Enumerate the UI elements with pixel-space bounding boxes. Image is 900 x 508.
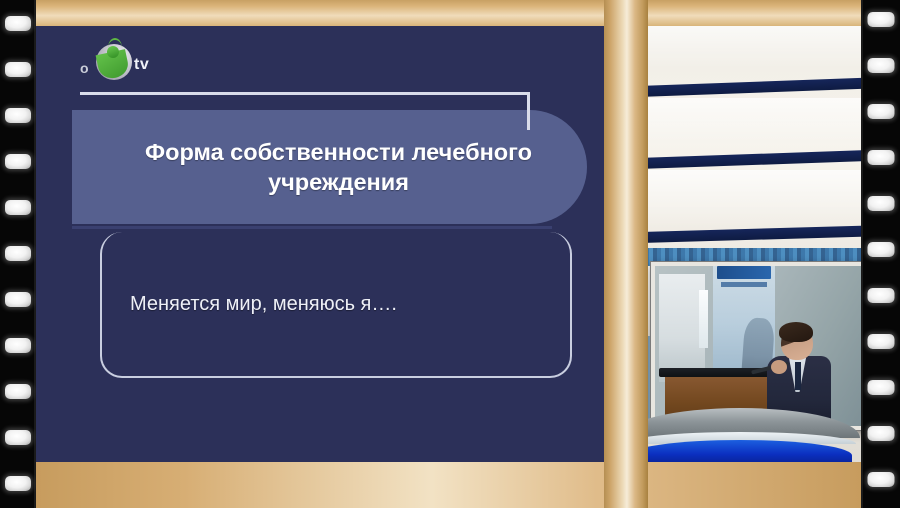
channel-logo: o tv	[78, 40, 170, 84]
film-perforation	[5, 16, 31, 31]
gold-bottom-band	[36, 462, 861, 508]
film-perforation	[5, 292, 31, 307]
filmstrip-left	[0, 0, 36, 508]
inset-speaker-hair	[779, 322, 813, 342]
film-perforation	[867, 380, 894, 395]
studio-stripe	[645, 225, 861, 243]
film-perforation	[867, 288, 894, 303]
film-perforation	[867, 472, 894, 487]
studio-panel-glow	[645, 98, 861, 152]
film-perforation	[867, 104, 894, 119]
film-perforation	[5, 338, 31, 353]
filmstrip-right	[861, 0, 900, 508]
gold-divider-column	[604, 0, 648, 508]
slide-connector-horizontal-rule	[80, 92, 530, 95]
logo-prefix-text: o	[80, 60, 89, 76]
film-perforation	[5, 154, 31, 169]
inset-banner-logo	[717, 266, 771, 279]
film-perforation	[5, 108, 31, 123]
inset-speaker-tie	[795, 362, 801, 390]
film-perforation	[5, 62, 31, 77]
film-perforation	[5, 246, 31, 261]
presentation-slide: o tv Форма собственности лечебного учреж…	[36, 22, 606, 486]
slide-connector-vertical-rule	[527, 92, 530, 130]
studio-stripe	[645, 77, 861, 97]
film-perforation	[5, 200, 31, 215]
slide-title-banner: Форма собственности лечебного учреждения	[72, 110, 587, 224]
film-perforation	[867, 242, 894, 257]
studio-panel-glow	[645, 170, 861, 228]
gold-top-band	[36, 0, 861, 26]
logo-tv-text: tv	[134, 56, 149, 74]
film-perforation	[867, 426, 894, 441]
slide-subtitle-box: Меняется мир, меняюсь я….	[100, 232, 572, 378]
logo-stem-icon	[108, 38, 122, 50]
film-perforation	[867, 12, 894, 27]
screenshot-stage: o tv Форма собственности лечебного учреж…	[0, 0, 900, 508]
film-perforation	[867, 196, 894, 211]
inset-speaker-hand	[771, 360, 787, 374]
studio-panel-glow	[645, 22, 861, 68]
film-perforation	[5, 384, 31, 399]
studio-stripe	[645, 150, 861, 169]
film-perforation	[867, 58, 894, 73]
inset-banner-subtext	[721, 282, 767, 287]
video-inset-speaker[interactable]	[651, 262, 867, 430]
film-perforation	[867, 334, 894, 349]
film-perforation	[5, 476, 31, 491]
film-perforation	[5, 430, 31, 445]
slide-subtitle-text: Меняется мир, меняюсь я….	[130, 293, 397, 316]
inset-door-light	[699, 290, 708, 348]
slide-title-text: Форма собственности лечебного учреждения	[104, 137, 574, 197]
film-perforation	[867, 150, 894, 165]
title-banner-underline	[72, 226, 552, 229]
